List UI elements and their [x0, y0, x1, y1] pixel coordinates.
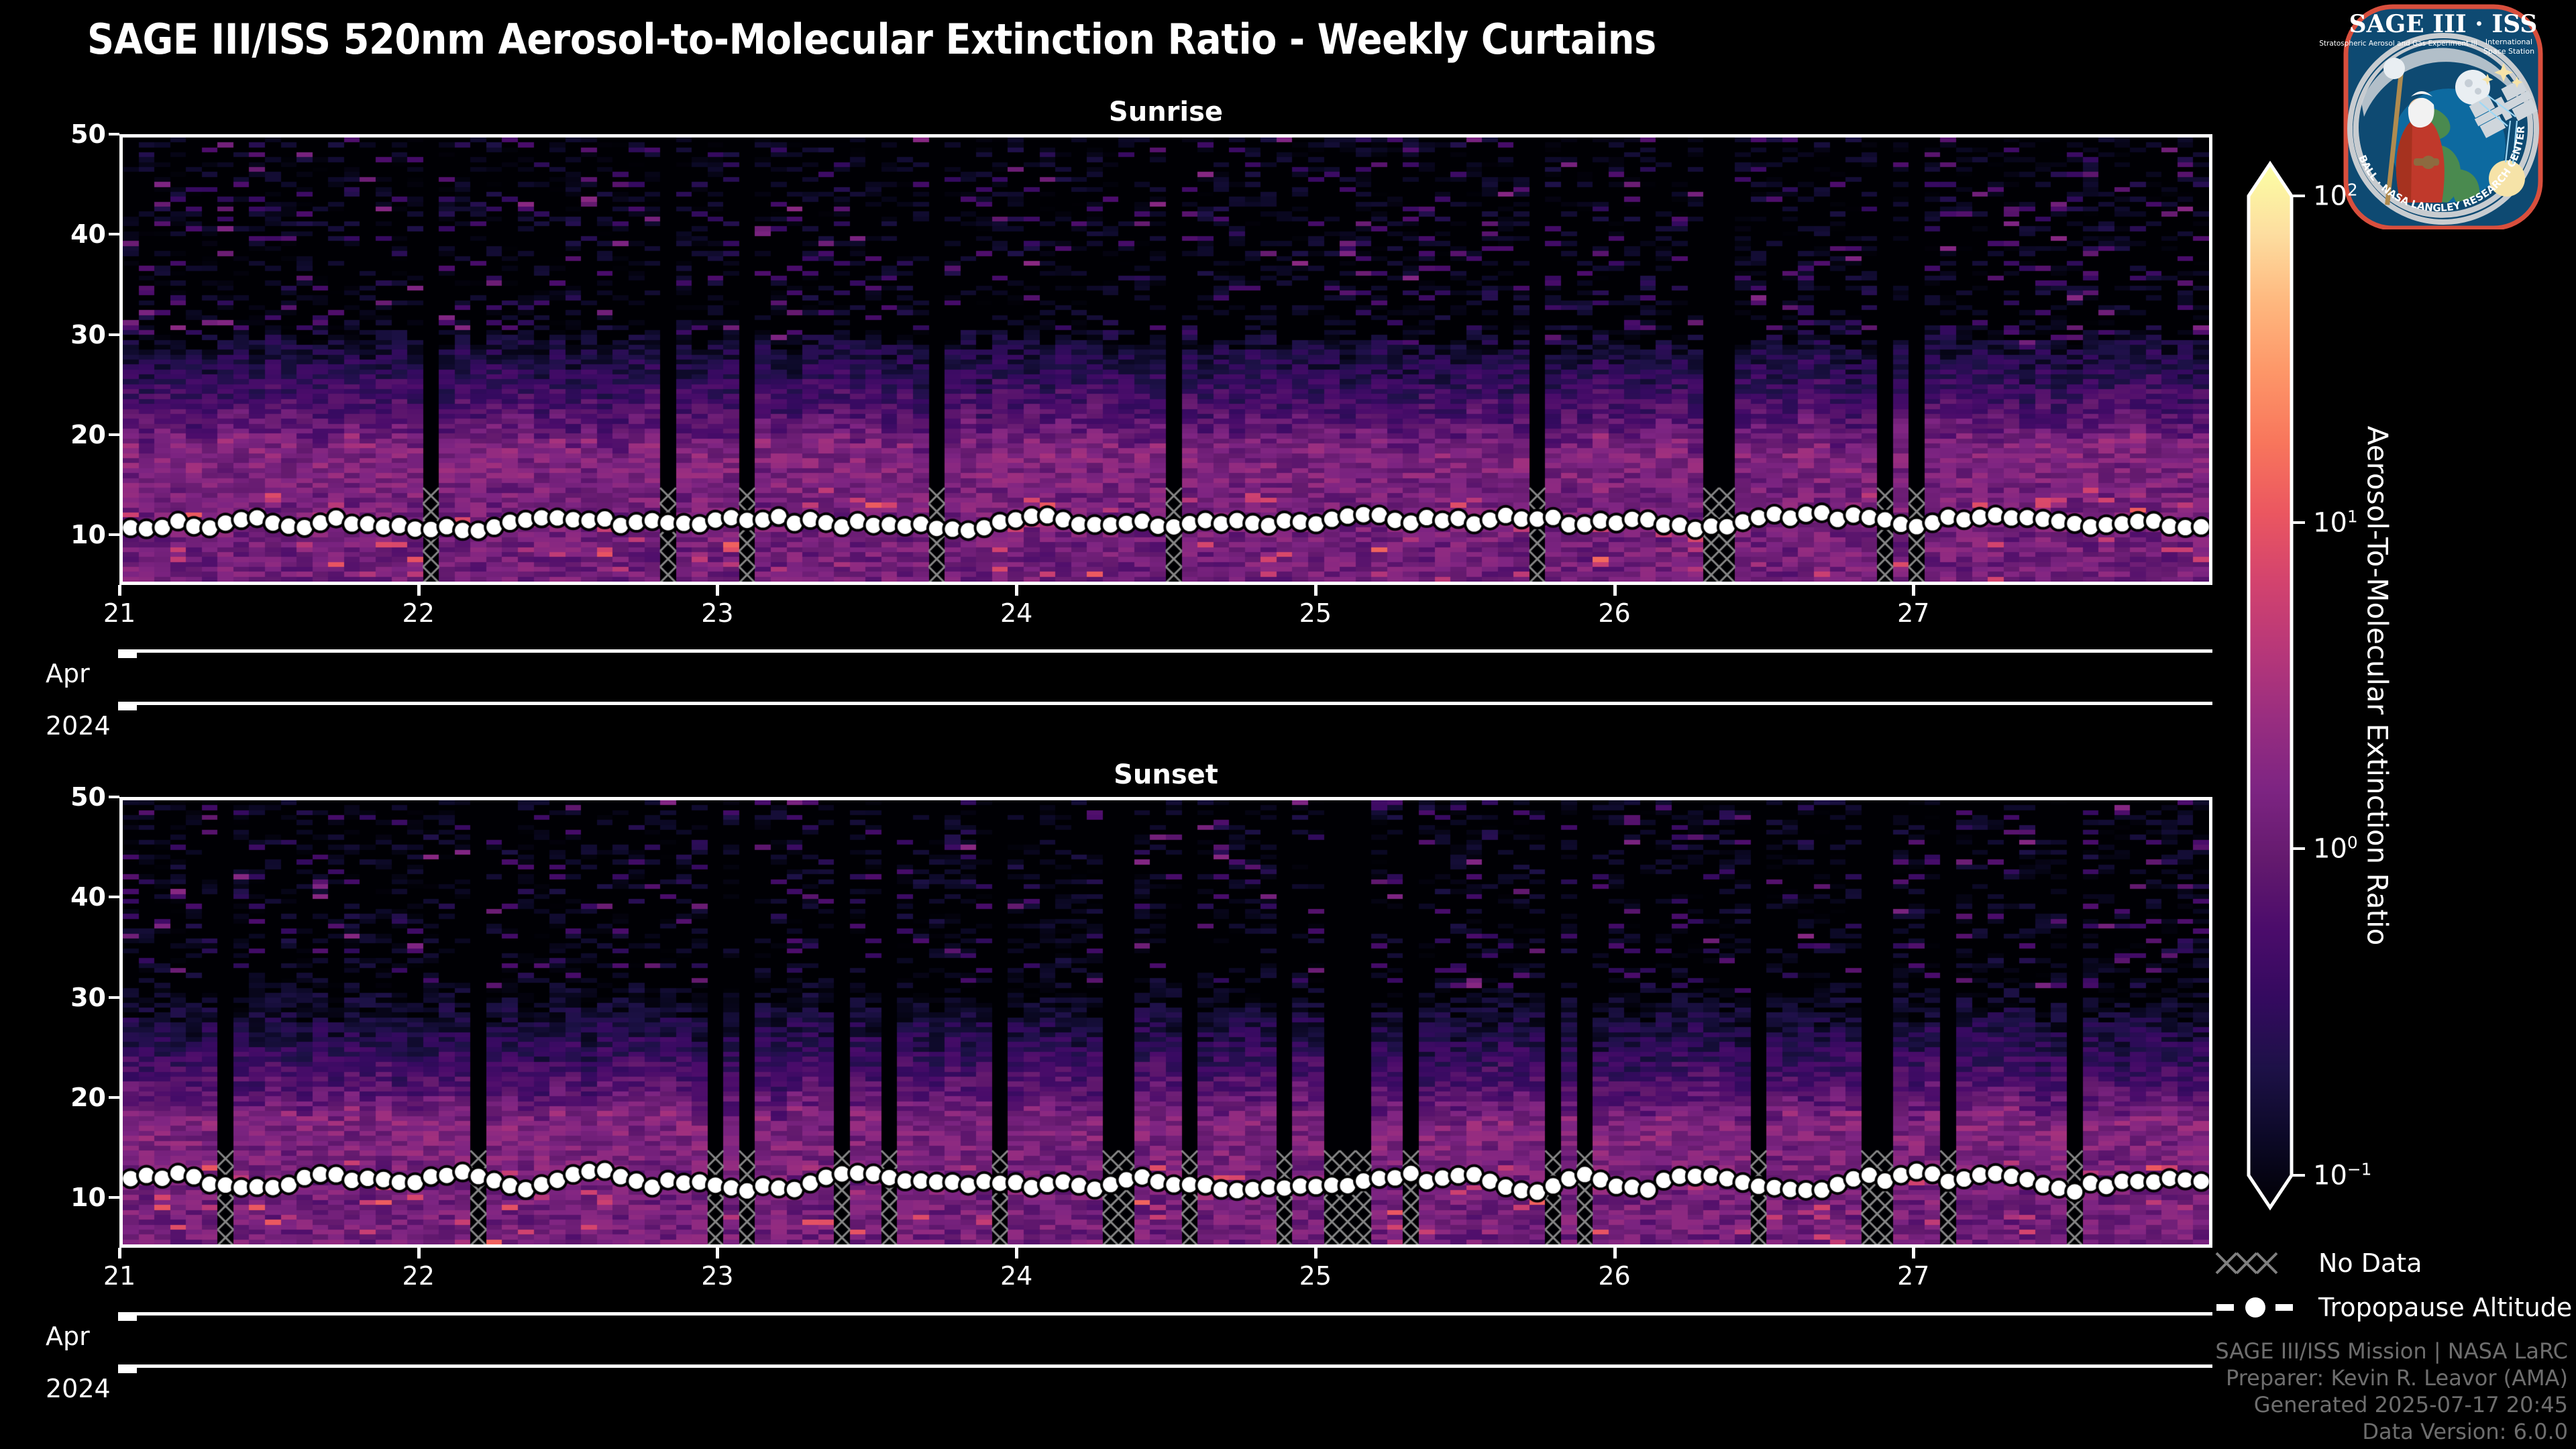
y-axis-tick-mark	[109, 1096, 119, 1099]
x-axis-tick-mark	[417, 585, 421, 596]
x-axis-tick-label: 27	[1897, 1261, 1929, 1291]
x-axis-level-label-year: 2024	[46, 711, 111, 741]
logo-subtitle-right-1: International	[2485, 38, 2532, 46]
colorbar-tick-mark	[2293, 521, 2305, 524]
panel-sunrise: Sunrise	[119, 134, 2212, 585]
colorbar-tick-mark	[2293, 1174, 2305, 1177]
y-axis-tick-mark	[109, 1196, 119, 1199]
x-axis-level-line-month	[119, 649, 2212, 653]
footer-line: Preparer: Kevin R. Leavor (AMA)	[2215, 1364, 2568, 1391]
x-axis-level-tick-year	[118, 1364, 137, 1373]
y-axis-tick-label: 20	[32, 420, 106, 449]
colorbar-tick-label: 10−1	[2313, 1159, 2371, 1191]
x-axis-tick-mark	[1015, 1248, 1018, 1258]
footer-credits: SAGE III/ISS Mission | NASA LaRCPreparer…	[2215, 1338, 2568, 1445]
panel-sunset: Sunset	[119, 797, 2212, 1248]
colorbar-tick-label: 100	[2313, 833, 2358, 865]
x-axis-tick-mark	[1613, 585, 1617, 596]
x-axis-level-label-month: Apr	[46, 1322, 90, 1351]
x-axis-tick-label: 25	[1299, 1261, 1332, 1291]
colorbar-tick-mark	[2293, 195, 2305, 197]
y-axis-tick-mark	[109, 233, 119, 235]
x-axis-tick-mark	[1613, 1248, 1617, 1258]
x-axis-tick-mark	[118, 1248, 121, 1258]
colorbar-axis-label: Aerosol-To-Molecular Extinction Ratio	[2361, 426, 2394, 946]
x-axis-tick-label: 24	[1000, 1261, 1032, 1291]
y-axis-tick-label: 30	[32, 983, 106, 1012]
colorbar-gradient-bar	[2249, 164, 2292, 1207]
y-axis-tick-label: 10	[32, 520, 106, 549]
x-axis-level-line-year	[119, 1364, 2212, 1368]
legend-item-label: Tropopause Altitude	[2318, 1293, 2572, 1322]
legend: No DataTropopause Altitude	[2214, 1241, 2572, 1330]
logo-title: SAGE III · ISS	[2349, 10, 2538, 38]
heatmap-plot-area[interactable]	[119, 134, 2212, 585]
panel-title: Sunrise	[119, 97, 2212, 127]
colorbar-tick-mark	[2293, 847, 2305, 850]
x-axis-tick-label: 21	[103, 598, 136, 628]
heatmap-canvas	[123, 138, 2209, 582]
x-axis-tick-label: 22	[402, 1261, 435, 1291]
page-title: SAGE III/ISS 520nm Aerosol-to-Molecular …	[87, 15, 1656, 64]
x-axis-level-label-month: Apr	[46, 659, 90, 688]
x-axis-tick-mark	[1912, 1248, 1915, 1258]
footer-line: Generated 2025-07-17 20:45	[2215, 1391, 2568, 1418]
x-axis-level-tick-month	[118, 649, 137, 658]
y-axis-tick-label: 20	[32, 1083, 106, 1112]
logo-subtitle-left: Stratospheric Aerosol and Gas Experiment…	[2319, 40, 2477, 48]
heatmap-plot-area[interactable]	[119, 797, 2212, 1248]
x-axis-tick-label: 25	[1299, 598, 1332, 628]
x-axis-tick-label: 27	[1897, 598, 1929, 628]
y-axis-tick-label: 30	[32, 320, 106, 350]
y-axis-tick-label: 50	[32, 119, 106, 149]
x-axis-tick-label: 23	[701, 598, 733, 628]
x-axis-tick-label: 22	[402, 598, 435, 628]
x-axis-tick-mark	[1314, 585, 1318, 596]
x-axis-tick-label: 26	[1598, 598, 1630, 628]
x-axis-tick-mark	[716, 585, 719, 596]
y-axis-tick-label: 50	[32, 782, 106, 812]
y-axis-tick-mark	[109, 333, 119, 336]
x-axis-tick-mark	[1912, 585, 1915, 596]
colorbar-tick-label: 101	[2313, 506, 2358, 538]
y-axis-tick-mark	[109, 133, 119, 136]
footer-line: Data Version: 6.0.0	[2215, 1418, 2568, 1445]
x-axis-tick-mark	[1314, 1248, 1318, 1258]
y-axis-tick-label: 10	[32, 1183, 106, 1212]
y-axis-tick-label: 40	[32, 882, 106, 912]
tropopause-line-marker-icon	[2214, 1291, 2301, 1324]
heatmap-canvas	[123, 800, 2209, 1244]
colorbar-tick-label: 102	[2313, 180, 2358, 211]
legend-item: No Data	[2214, 1241, 2572, 1285]
y-axis-tick-mark	[109, 533, 119, 536]
x-axis-tick-label: 26	[1598, 1261, 1630, 1291]
panel-title: Sunset	[119, 759, 2212, 790]
y-axis-tick-mark	[109, 896, 119, 898]
x-axis-level-tick-year	[118, 702, 137, 710]
legend-item-label: No Data	[2318, 1248, 2422, 1278]
legend-item: Tropopause Altitude	[2214, 1285, 2572, 1330]
x-axis-level-line-year	[119, 702, 2212, 705]
no-data-hatch-icon	[2214, 1246, 2301, 1280]
x-axis-level-label-year: 2024	[46, 1374, 111, 1403]
colorbar-svg	[2244, 159, 2296, 1212]
x-axis-tick-mark	[1015, 585, 1018, 596]
y-axis-tick-mark	[109, 996, 119, 999]
x-axis-level-line-month	[119, 1312, 2212, 1316]
x-axis-tick-mark	[417, 1248, 421, 1258]
x-axis-level-tick-month	[118, 1312, 137, 1321]
footer-line: SAGE III/ISS Mission | NASA LaRC	[2215, 1338, 2568, 1364]
y-axis-tick-mark	[109, 433, 119, 436]
x-axis-tick-mark	[118, 585, 121, 596]
x-axis-tick-label: 23	[701, 1261, 733, 1291]
figure-root: SAGE III/ISS 520nm Aerosol-to-Molecular …	[0, 0, 2576, 1449]
y-axis-tick-label: 40	[32, 219, 106, 249]
logo-subtitle-right-2: Space Station	[2483, 47, 2534, 56]
x-axis-tick-label: 24	[1000, 598, 1032, 628]
x-axis-tick-mark	[716, 1248, 719, 1258]
y-axis-tick-mark	[109, 796, 119, 798]
x-axis-tick-label: 21	[103, 1261, 136, 1291]
